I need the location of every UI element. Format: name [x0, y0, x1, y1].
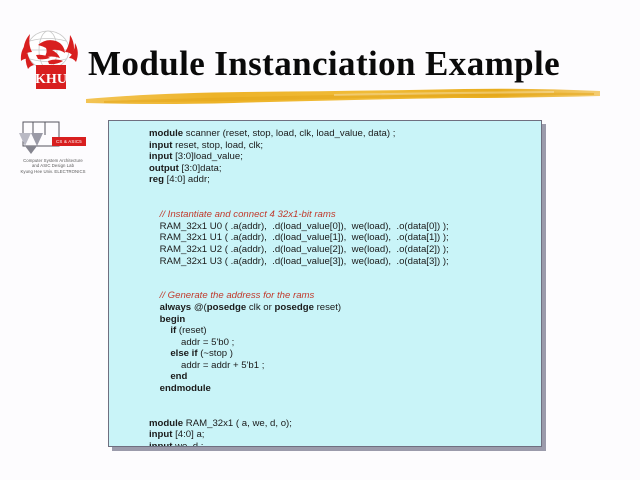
code-text: addr = 5'b0 ; — [181, 337, 234, 348]
code-line: RAM_32x1 U1 ( .a(addr), .d(load_value[1]… — [149, 232, 539, 244]
code-comment: // Instantiate and connect 4 32x1-bit ra… — [160, 209, 336, 220]
code-comment: // Generate the address for the rams — [160, 290, 315, 301]
verilog-code-block: module scanner (reset, stop, load, clk, … — [108, 120, 542, 447]
lab-mark-icon: CS & ASIC5 — [14, 120, 76, 156]
code-text: reset) — [314, 302, 341, 313]
code-text: reset, stop, load, clk; — [172, 140, 263, 151]
code-line: input [3:0]load_value; — [149, 151, 539, 163]
code-text: [4:0] addr; — [164, 174, 210, 185]
code-text: addr = addr + 5'b1 ; — [181, 360, 264, 371]
code-line: input reset, stop, load, clk; — [149, 140, 539, 152]
code-line: always @(posedge clk or posedge reset) — [149, 302, 539, 314]
code-text: [3:0]data; — [179, 163, 222, 174]
code-keyword: endmodule — [160, 383, 211, 394]
code-text: we, d ; — [172, 441, 203, 447]
slide-canvas: KHU Module Instanciation Example — [0, 0, 640, 480]
lab-badge-label: CS & ASIC5 — [52, 137, 86, 146]
code-text: [3:0]load_value; — [172, 151, 242, 162]
code-keyword: input — [149, 441, 172, 447]
code-text: (reset) — [176, 325, 206, 336]
code-line: endmodule — [149, 383, 539, 395]
code-keyword: module — [149, 128, 183, 139]
lab-caption: Computer System Architecture and ASIC De… — [14, 158, 92, 174]
code-line: input we, d ; — [149, 441, 539, 447]
gold-brush-divider — [84, 86, 602, 108]
code-keyword: output — [149, 163, 179, 174]
page-title: Module Instanciation Example — [88, 44, 618, 84]
code-line: begin — [149, 314, 539, 326]
code-keyword: else if — [170, 348, 197, 359]
khu-crest-icon: KHU — [18, 25, 84, 93]
code-line: input [4:0] a; — [149, 429, 539, 441]
code-text: [4:0] a; — [172, 429, 204, 440]
code-line: module scanner (reset, stop, load, clk, … — [149, 128, 539, 140]
code-keyword: always — [160, 302, 191, 313]
code-keyword: reg — [149, 174, 164, 185]
code-keyword: input — [149, 151, 172, 162]
code-line: RAM_32x1 U2 ( .a(addr), .d(load_value[2]… — [149, 244, 539, 256]
code-line: // Instantiate and connect 4 32x1-bit ra… — [149, 209, 539, 221]
code-line: output [3:0]data; — [149, 163, 539, 175]
code-text: RAM_32x1 ( a, we, d, o); — [183, 418, 292, 429]
khu-logo-text: KHU — [35, 72, 67, 87]
code-keyword: module — [149, 418, 183, 429]
code-line: RAM_32x1 U0 ( .a(addr), .d(load_value[0]… — [149, 221, 539, 233]
code-text: RAM_32x1 U0 ( .a(addr), .d(load_value[0]… — [160, 221, 449, 232]
code-line: reg [4:0] addr; — [149, 174, 539, 186]
code-line — [149, 395, 539, 407]
code-line — [149, 406, 539, 418]
code-text: RAM_32x1 U1 ( .a(addr), .d(load_value[1]… — [160, 232, 449, 243]
code-text: @( — [191, 302, 207, 313]
code-keyword: posedge — [274, 302, 313, 313]
code-keyword: end — [170, 371, 187, 382]
code-content: module scanner (reset, stop, load, clk, … — [149, 128, 539, 447]
code-line: module RAM_32x1 ( a, we, d, o); — [149, 418, 539, 430]
code-keyword: begin — [160, 314, 186, 325]
code-keyword: input — [149, 429, 172, 440]
code-line: addr = 5'b0 ; — [149, 337, 539, 349]
code-line — [149, 279, 539, 291]
code-text: scanner (reset, stop, load, clk, load_va… — [183, 128, 395, 139]
code-keyword: input — [149, 140, 172, 151]
code-line: RAM_32x1 U3 ( .a(addr), .d(load_value[3]… — [149, 256, 539, 268]
code-line: else if (~stop ) — [149, 348, 539, 360]
code-line: if (reset) — [149, 325, 539, 337]
code-text: RAM_32x1 U2 ( .a(addr), .d(load_value[2]… — [160, 244, 449, 255]
code-line: // Generate the address for the rams — [149, 290, 539, 302]
code-line — [149, 267, 539, 279]
lab-caption-line-3: Kyung Hee Univ. ELECTRONICS — [14, 169, 92, 174]
code-keyword: posedge — [207, 302, 246, 313]
code-text: RAM_32x1 U3 ( .a(addr), .d(load_value[3]… — [160, 256, 449, 267]
code-line: end — [149, 371, 539, 383]
code-line — [149, 186, 539, 198]
code-text: (~stop ) — [198, 348, 233, 359]
department-lab-logo: CS & ASIC5 Computer System Architecture … — [14, 120, 92, 182]
code-line — [149, 198, 539, 210]
code-text: clk or — [246, 302, 274, 313]
code-line: addr = addr + 5'b1 ; — [149, 360, 539, 372]
